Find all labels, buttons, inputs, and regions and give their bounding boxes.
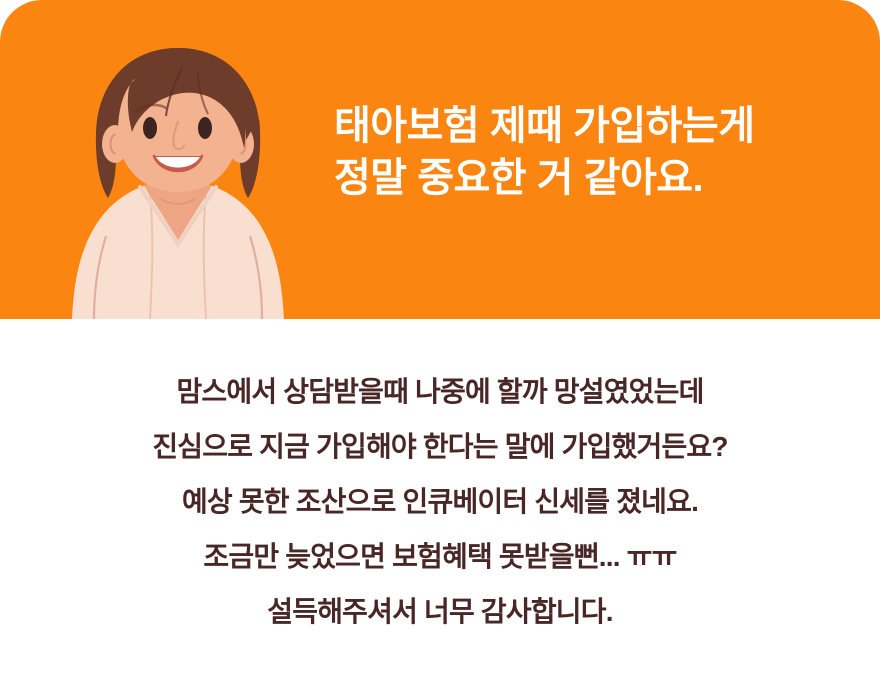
testimonial-line-5: 설득해주셔서 너무 감사합니다. [0,584,880,639]
testimonial-line-2: 진심으로 지금 가입해야 한다는 말에 가입했거든요? [0,419,880,474]
testimonial-line-4: 조금만 늦었으면 보험혜택 못받을뻔... ㅠㅠ [0,529,880,584]
testimonial-text-block: 맘스에서 상담받을때 나중에 할까 망설였었는데 진심으로 지금 가입해야 한다… [0,364,880,639]
testimonial-line-1: 맘스에서 상담받을때 나중에 할까 망설였었는데 [0,364,880,419]
headline: 태아보험 제때 가입하는게 정말 중요한 거 같아요. [334,100,854,204]
smiling-woman-avatar-icon [70,40,286,319]
headline-line-2: 정말 중요한 거 같아요. [334,152,854,204]
headline-line-1: 태아보험 제때 가입하는게 [334,100,854,152]
testimonial-line-3: 예상 못한 조산으로 인큐베이터 신세를 졌네요. [0,474,880,529]
customer-testimonial-card: 태아보험 제때 가입하는게 정말 중요한 거 같아요. 맘스에서 상담받을때 나… [0,0,880,700]
header-band: 태아보험 제때 가입하는게 정말 중요한 거 같아요. [0,0,880,319]
